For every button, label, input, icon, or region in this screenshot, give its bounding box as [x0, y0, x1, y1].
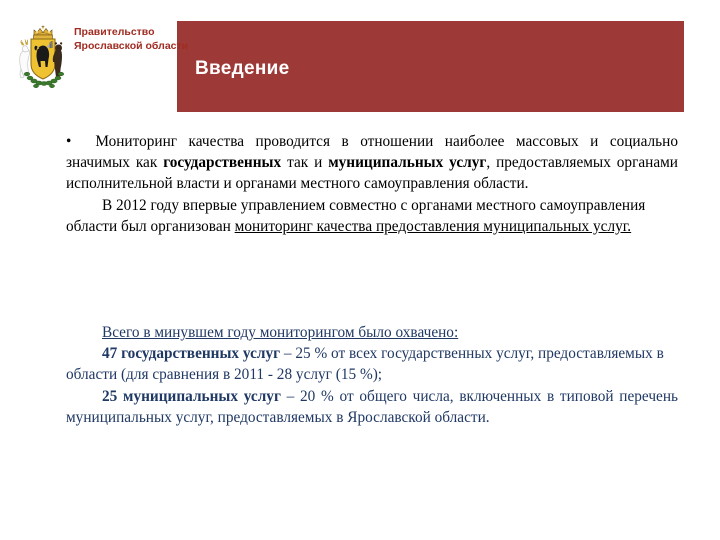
paragraph-monitoring-scope: •Мониторинг качества проводится в отноше… — [66, 131, 678, 195]
stat-bold-47-state-services: 47 государственных услуг — [102, 345, 280, 362]
slide-canvas: Введение — [0, 0, 720, 540]
paragraph-state-services-stat: 47 государственных услуг – 25 % от всех … — [66, 343, 678, 385]
paragraph-underlined-monitoring-phrase: мониторинг качества предоставления муниц… — [235, 218, 632, 235]
paragraph-municipal-services-stat: 25 муниципальных услуг – 20 % от общего … — [66, 386, 678, 428]
organization-name-line-2: Ярославской области — [74, 40, 220, 54]
content-block-primary: •Мониторинг качества проводится в отноше… — [66, 131, 678, 237]
paragraph-coverage-heading: Всего в минувшем году мониторингом было … — [66, 322, 678, 343]
paragraph-bold-state-services: государственных — [163, 154, 281, 171]
paragraph-2012-monitoring: В 2012 году впервые управлением совместн… — [66, 195, 678, 237]
paragraph-segment-2: так и — [281, 154, 328, 171]
bullet-glyph: • — [66, 133, 71, 150]
organization-name: Правительство Ярославской области — [74, 26, 220, 53]
paragraph-underlined-coverage-heading: Всего в минувшем году мониторингом было … — [102, 324, 458, 341]
stat-bold-25-municipal-services: 25 муниципальных услуг — [102, 388, 281, 405]
page-title: Введение — [195, 58, 665, 80]
paragraph-bold-municipal-services: муниципальных услуг — [328, 154, 486, 171]
organization-logo-block: Правительство Ярославской области — [12, 22, 217, 94]
organization-name-line-1: Правительство — [74, 26, 220, 40]
content-block-secondary: Всего в минувшем году мониторингом было … — [66, 322, 678, 428]
yaroslavl-oblast-coat-of-arms-icon — [12, 22, 74, 92]
